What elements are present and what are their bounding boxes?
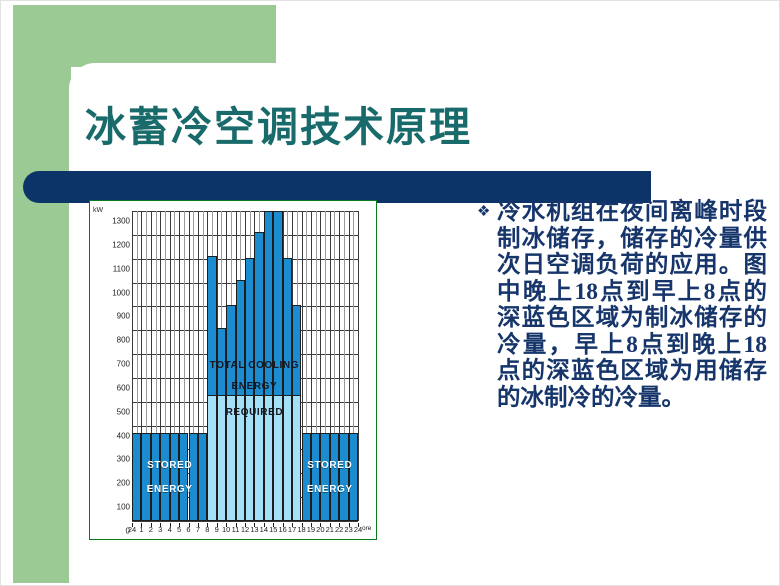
body-text-block: ❖ 冷水机组在夜间离峰时段制冰储存，储存的冷量供次日空调负荷的应用。图中晚上18… (477, 199, 767, 411)
chart-bar (207, 395, 216, 521)
chart-x-tick-mark (302, 523, 303, 527)
chart-y-tick-label: 700 (94, 360, 130, 369)
chart-x-tick-mark (189, 523, 190, 527)
chart-x-axis-label: ore (362, 525, 371, 532)
bullet-item-text: 冷水机组在夜间离峰时段制冰储存，储存的冷量供次日空调负荷的应用。图中晚上18点到… (497, 199, 767, 411)
chart-y-tick-label: 900 (94, 312, 130, 321)
chart-bar (330, 433, 339, 521)
chart-x-tick-mark (236, 523, 237, 527)
chart-y-tick-label: 1100 (94, 264, 130, 273)
chart-bar (264, 395, 273, 521)
chart-x-tick-mark (283, 523, 284, 527)
chart-x-tick-mark (160, 523, 161, 527)
chart-x-tick-mark (179, 523, 180, 527)
chart-x-tick-mark (273, 523, 274, 527)
chart-y-tick-label: 0 (94, 527, 130, 536)
chart-bar (254, 395, 263, 521)
chart-bar (311, 433, 320, 521)
chart-y-tick-label: 400 (94, 431, 130, 440)
chart-bar (320, 433, 329, 521)
chart-x-tick-mark (217, 523, 218, 527)
chart-bar (226, 395, 235, 521)
chart-bar (302, 433, 311, 521)
chart-bar (217, 395, 226, 521)
chart-gridline-vertical (358, 211, 359, 521)
chart-y-tick-label: 200 (94, 479, 130, 488)
chart-x-axis-ticks: 2412345678910111213141516171819202122232… (132, 523, 372, 537)
chart-bar (160, 433, 169, 521)
chart-x-tick-mark (141, 523, 142, 527)
chart-bar (179, 433, 188, 521)
decorative-green-column-left (13, 5, 71, 583)
chart-x-tick-mark (254, 523, 255, 527)
chart-bar (273, 395, 282, 521)
chart-bar (245, 395, 254, 521)
chart-bar (198, 433, 207, 521)
chart-y-tick-label: 1200 (94, 240, 130, 249)
chart-y-tick-label: 800 (94, 336, 130, 345)
chart-plot-area: TOTAL COOLINGENERGYREQUIREDSTOREDENERGYS… (132, 211, 358, 521)
chart-x-tick-mark (264, 523, 265, 527)
chart-bar (339, 433, 348, 521)
chart-figure: kW 0100200300400500600700800900100011001… (89, 200, 377, 540)
chart-gridline-horizontal (132, 521, 358, 522)
chart-x-tick-mark (170, 523, 171, 527)
chart-bar (170, 433, 179, 521)
chart-bar (236, 395, 245, 521)
chart-y-tick-label: 1300 (94, 217, 130, 226)
chart-x-tick-mark (358, 523, 359, 527)
chart-x-tick-mark (132, 523, 133, 527)
chart-x-tick-mark (349, 523, 350, 527)
chart-y-tick-label: 100 (94, 503, 130, 512)
chart-x-tick-mark (207, 523, 208, 527)
chart-bar (292, 395, 301, 521)
chart-bar (132, 433, 141, 521)
chart-bar (151, 433, 160, 521)
chart-bar (141, 433, 150, 521)
chart-y-tick-label: 500 (94, 407, 130, 416)
chart-x-tick-mark (292, 523, 293, 527)
page-title: 冰蓄冷空调技术原理 (85, 93, 472, 153)
chart-y-tick-label: 600 (94, 383, 130, 392)
chart-x-tick-mark (330, 523, 331, 527)
chart-bar (189, 433, 198, 521)
chart-x-tick-mark (311, 523, 312, 527)
chart-x-tick-mark (226, 523, 227, 527)
chart-inner: kW 0100200300400500600700800900100011001… (90, 201, 376, 539)
chart-y-tick-label: 300 (94, 455, 130, 464)
chart-y-axis-ticks: 0100200300400500600700800900100011001200… (92, 211, 130, 521)
chart-x-tick-mark (320, 523, 321, 527)
slide-canvas: 冰蓄冷空调技术原理 kW 010020030040050060070080090… (0, 0, 780, 586)
chart-x-tick-mark (245, 523, 246, 527)
chart-bar (349, 433, 358, 521)
chart-x-tick-mark (198, 523, 199, 527)
chart-x-tick-mark (339, 523, 340, 527)
chart-x-tick-mark (151, 523, 152, 527)
chart-bar (283, 395, 292, 521)
bullet-item: ❖ 冷水机组在夜间离峰时段制冰储存，储存的冷量供次日空调负荷的应用。图中晚上18… (477, 199, 767, 411)
chart-y-tick-label: 1000 (94, 288, 130, 297)
diamond-bullet-icon: ❖ (477, 199, 497, 225)
